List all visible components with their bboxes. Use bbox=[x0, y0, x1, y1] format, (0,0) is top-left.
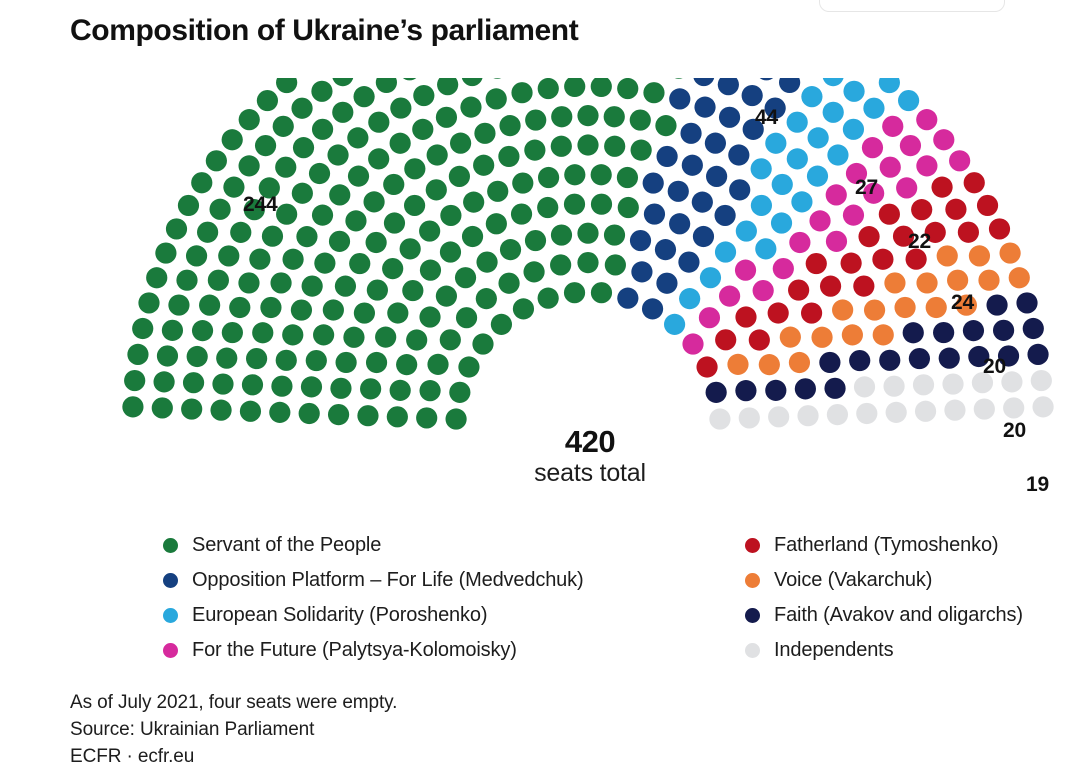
seat-dot bbox=[1009, 267, 1030, 288]
legend-item[interactable]: For the Future (Palytsya-Kolomoisky) bbox=[163, 633, 584, 668]
seat-dot bbox=[260, 297, 281, 318]
seat-dot bbox=[255, 135, 276, 156]
seat-dot bbox=[977, 195, 998, 216]
seat-dot bbox=[823, 78, 844, 86]
seat-dot bbox=[715, 205, 736, 226]
seat-dot bbox=[486, 88, 507, 109]
seat-dot bbox=[604, 106, 625, 127]
seat-dot bbox=[858, 226, 879, 247]
seat-dot bbox=[402, 280, 423, 301]
seat-dot bbox=[668, 181, 689, 202]
seat-dot bbox=[427, 144, 448, 165]
seat-dot bbox=[367, 279, 388, 300]
legend-item[interactable]: Independents bbox=[745, 633, 1023, 668]
seat-dot bbox=[843, 119, 864, 140]
footer-credit: ECFR · ecfr.eu bbox=[70, 744, 397, 771]
seat-dot bbox=[416, 407, 437, 428]
seat-dot bbox=[807, 166, 828, 187]
seat-dot bbox=[360, 378, 381, 399]
seat-dot bbox=[212, 373, 233, 394]
seat-dot bbox=[884, 272, 905, 293]
seat-dot bbox=[751, 195, 772, 216]
seat-dot bbox=[511, 203, 532, 224]
seat-dot bbox=[678, 251, 699, 272]
legend-item[interactable]: European Solidarity (Poroshenko) bbox=[163, 598, 584, 633]
seat-dot bbox=[933, 322, 954, 343]
legend-item[interactable]: Servant of the People bbox=[163, 528, 584, 563]
seat-dot bbox=[270, 272, 291, 293]
seat-dot bbox=[210, 400, 231, 421]
seat-dot bbox=[986, 294, 1007, 315]
seat-dot bbox=[765, 380, 786, 401]
seat-dot bbox=[668, 78, 689, 79]
seat-dot bbox=[879, 350, 900, 371]
seat-dot bbox=[206, 150, 227, 171]
seat-dot bbox=[913, 374, 934, 395]
seat-dot bbox=[209, 199, 230, 220]
seat-dot bbox=[192, 320, 213, 341]
seat-dot bbox=[472, 333, 493, 354]
seat-dot bbox=[230, 222, 251, 243]
seat-dot bbox=[498, 146, 519, 167]
seat-dot bbox=[718, 78, 739, 95]
seat-dot bbox=[577, 134, 598, 155]
browser-tab-sliver bbox=[820, 0, 1004, 11]
seat-dot bbox=[735, 380, 756, 401]
seat-dot bbox=[617, 167, 638, 188]
seat-dot bbox=[323, 299, 344, 320]
seat-dot bbox=[945, 199, 966, 220]
seat-dot bbox=[789, 232, 810, 253]
seat-dot bbox=[525, 230, 546, 251]
seat-dot bbox=[715, 241, 736, 262]
seat-dot bbox=[682, 333, 703, 354]
seat-dot bbox=[387, 302, 408, 323]
seat-count-callout: 19 bbox=[1026, 473, 1049, 497]
seat-dot bbox=[880, 157, 901, 178]
seat-dot bbox=[736, 220, 757, 241]
seat-dot bbox=[498, 273, 519, 294]
seat-dot bbox=[336, 352, 357, 373]
seat-dot bbox=[537, 197, 558, 218]
seat-dot bbox=[735, 306, 756, 327]
seat-dot bbox=[719, 286, 740, 307]
seat-dot bbox=[826, 231, 847, 252]
seat-dot bbox=[1031, 370, 1052, 391]
seat-dot bbox=[820, 276, 841, 297]
seat-dot bbox=[440, 205, 461, 226]
seat-dot bbox=[387, 406, 408, 427]
seat-dot bbox=[749, 329, 770, 350]
seat-dot bbox=[823, 102, 844, 123]
seat-dot bbox=[486, 213, 507, 234]
seat-dot bbox=[705, 133, 726, 154]
seat-dot bbox=[375, 327, 396, 348]
seat-dot bbox=[239, 109, 260, 130]
seat-dot bbox=[564, 194, 585, 215]
seat-dot bbox=[1027, 344, 1048, 365]
seat-dot bbox=[809, 210, 830, 231]
seat-dot bbox=[591, 282, 612, 303]
seat-dot bbox=[500, 239, 521, 260]
seat-dot bbox=[363, 191, 384, 212]
seat-dot bbox=[384, 212, 405, 233]
legend-item-label: Voice (Vakarchuk) bbox=[774, 569, 932, 592]
seat-dot bbox=[729, 179, 750, 200]
seat-dot bbox=[168, 294, 189, 315]
seat-dot bbox=[152, 397, 173, 418]
seat-dot bbox=[301, 376, 322, 397]
footer: As of July 2021, four seats were empty. … bbox=[70, 690, 397, 771]
seat-dot bbox=[827, 404, 848, 425]
seat-dot bbox=[327, 144, 348, 165]
seat-dot bbox=[368, 112, 389, 133]
seat-dot bbox=[963, 320, 984, 341]
seat-dot bbox=[873, 324, 894, 345]
seat-dot bbox=[735, 260, 756, 281]
seat-dot bbox=[186, 245, 207, 266]
seat-dot bbox=[176, 270, 197, 291]
seat-dot bbox=[404, 195, 425, 216]
seat-dot bbox=[856, 403, 877, 424]
seat-dot bbox=[437, 78, 458, 95]
seat-dot bbox=[412, 119, 433, 140]
seat-dot bbox=[146, 267, 167, 288]
seat-dot bbox=[801, 86, 822, 107]
seat-dot bbox=[242, 374, 263, 395]
total-seats-block: 420 seats total bbox=[470, 424, 710, 488]
seat-dot bbox=[299, 403, 320, 424]
seat-dot bbox=[513, 298, 534, 319]
seat-dot bbox=[742, 85, 763, 106]
seat-dot bbox=[591, 194, 612, 215]
seat-dot bbox=[808, 127, 829, 148]
seat-dot bbox=[330, 378, 351, 399]
seat-dot bbox=[853, 276, 874, 297]
seat-dot bbox=[249, 249, 270, 270]
seat-dot bbox=[153, 371, 174, 392]
seat-dot bbox=[564, 78, 585, 97]
seat-dot bbox=[162, 320, 183, 341]
footer-source: Source: Ukrainian Parliament bbox=[70, 717, 397, 744]
seat-dot bbox=[978, 270, 999, 291]
page-title: Composition of Ukraine’s parliament bbox=[70, 14, 578, 48]
seat-dot bbox=[551, 136, 572, 157]
seat-dot bbox=[631, 140, 652, 161]
seat-dot bbox=[292, 183, 313, 204]
legend-item-label: European Solidarity (Poroshenko) bbox=[192, 604, 487, 627]
seat-dot bbox=[926, 297, 947, 318]
seat-dot bbox=[474, 123, 495, 144]
seat-dot bbox=[269, 402, 290, 423]
seat-dot bbox=[138, 292, 159, 313]
legend-item[interactable]: Opposition Platform – For Life (Medvedch… bbox=[163, 563, 584, 598]
seat-dot bbox=[631, 261, 652, 282]
seat-dot bbox=[916, 155, 937, 176]
seat-dot bbox=[1000, 242, 1021, 263]
seat-dot bbox=[353, 86, 374, 107]
legend-item-label: Fatherland (Tymoshenko) bbox=[774, 534, 998, 557]
seat-dot bbox=[564, 282, 585, 303]
seat-dot bbox=[538, 78, 559, 99]
seat-dot bbox=[458, 356, 479, 377]
seat-dot bbox=[302, 276, 323, 297]
seat-dot bbox=[309, 163, 330, 184]
seat-dot bbox=[463, 192, 484, 213]
seat-dot bbox=[700, 267, 721, 288]
seat-dot bbox=[273, 116, 294, 137]
seat-dot bbox=[787, 112, 808, 133]
seat-dot bbox=[296, 226, 317, 247]
seat-dot bbox=[827, 144, 848, 165]
seat-dot bbox=[276, 350, 297, 371]
seat-dot bbox=[525, 109, 546, 130]
legend-item-label: Faith (Avakov and oligarchs) bbox=[774, 604, 1023, 627]
legend-item-label: Servant of the People bbox=[192, 534, 381, 557]
seat-dot bbox=[883, 376, 904, 397]
seat-dot bbox=[655, 115, 676, 136]
seat-dot bbox=[276, 78, 297, 93]
seat-dot bbox=[706, 382, 727, 403]
seat-dot bbox=[450, 133, 471, 154]
seat-dot bbox=[487, 78, 508, 79]
seat-dot bbox=[419, 306, 440, 327]
seat-dot bbox=[605, 254, 626, 275]
seat-dot bbox=[879, 78, 900, 93]
seat-dot bbox=[630, 230, 651, 251]
seat-dot bbox=[643, 82, 664, 103]
footer-note: As of July 2021, four seats were empty. bbox=[70, 690, 397, 717]
seat-dot bbox=[306, 350, 327, 371]
seat-dot bbox=[824, 378, 845, 399]
seat-dot bbox=[512, 172, 533, 193]
seat-dot bbox=[788, 279, 809, 300]
seat-dot bbox=[843, 205, 864, 226]
seat-dot bbox=[499, 115, 520, 136]
legend-item-label: For the Future (Palytsya-Kolomoisky) bbox=[192, 639, 517, 662]
seat-dot bbox=[538, 288, 559, 309]
seat-dot bbox=[630, 109, 651, 130]
seat-dot bbox=[390, 133, 411, 154]
seat-dot bbox=[694, 97, 715, 118]
seat-dot bbox=[491, 314, 512, 335]
legend-color-swatch-icon bbox=[163, 573, 178, 588]
seat-count-callout: 44 bbox=[755, 106, 778, 130]
seat-dot bbox=[617, 288, 638, 309]
seat-dot bbox=[993, 320, 1014, 341]
seat-dot bbox=[311, 81, 332, 102]
seat-dot bbox=[692, 192, 713, 213]
seat-dot bbox=[989, 218, 1010, 239]
seat-dot bbox=[728, 144, 749, 165]
seat-dot bbox=[476, 288, 497, 309]
seat-dot bbox=[343, 327, 364, 348]
legend-column-right: Fatherland (Tymoshenko)Voice (Vakarchuk)… bbox=[745, 528, 1023, 668]
seat-dot bbox=[916, 109, 937, 130]
legend-color-swatch-icon bbox=[745, 538, 760, 553]
seat-dot bbox=[257, 90, 278, 111]
seat-dot bbox=[187, 346, 208, 367]
seat-dot bbox=[449, 382, 470, 403]
seat-dot bbox=[312, 119, 333, 140]
seat-dot bbox=[223, 177, 244, 198]
seat-dot bbox=[345, 210, 366, 231]
seat-dot bbox=[282, 249, 303, 270]
seat-dot bbox=[693, 226, 714, 247]
seat-dot bbox=[642, 298, 663, 319]
seat-dot bbox=[669, 88, 690, 109]
legend-color-swatch-icon bbox=[163, 643, 178, 658]
seat-dot bbox=[313, 324, 334, 345]
seat-dot bbox=[958, 222, 979, 243]
seat-dot bbox=[124, 370, 145, 391]
seat-dot bbox=[473, 155, 494, 176]
seat-dot bbox=[390, 380, 411, 401]
seat-dot bbox=[440, 329, 461, 350]
seat-dot bbox=[872, 249, 893, 270]
seat-dot bbox=[886, 402, 907, 423]
seat-dot bbox=[445, 408, 466, 429]
seat-dot bbox=[974, 398, 995, 419]
seat-dot bbox=[551, 106, 572, 127]
legend-color-swatch-icon bbox=[163, 538, 178, 553]
seat-dot bbox=[797, 405, 818, 426]
seat-dot bbox=[413, 85, 434, 106]
seat-dot bbox=[719, 107, 740, 128]
seat-dot bbox=[222, 322, 243, 343]
seat-dot bbox=[238, 272, 259, 293]
seat-dot bbox=[538, 167, 559, 188]
seat-dot bbox=[696, 356, 717, 377]
seat-dot bbox=[699, 307, 720, 328]
seat-count-callout: 20 bbox=[1003, 419, 1026, 443]
seat-dot bbox=[693, 78, 714, 86]
seat-dot bbox=[795, 378, 816, 399]
seat-count-callout: 22 bbox=[908, 230, 931, 254]
seat-dot bbox=[1003, 397, 1024, 418]
legend-item-label: Opposition Platform – For Life (Medvedch… bbox=[192, 569, 584, 592]
seat-dot bbox=[944, 400, 965, 421]
seat-dot bbox=[849, 350, 870, 371]
seat-dot bbox=[773, 258, 794, 279]
seat-dot bbox=[789, 352, 810, 373]
seat-dot bbox=[419, 380, 440, 401]
seat-dot bbox=[550, 254, 571, 275]
seat-dot bbox=[199, 295, 220, 316]
seat-dot bbox=[396, 354, 417, 375]
seat-dot bbox=[618, 197, 639, 218]
seat-dot bbox=[806, 253, 827, 274]
legend-item[interactable]: Faith (Avakov and oligarchs) bbox=[745, 598, 1023, 633]
seat-dot bbox=[400, 238, 421, 259]
seat-dot bbox=[679, 288, 700, 309]
seat-dot bbox=[826, 184, 847, 205]
seat-dot bbox=[511, 82, 532, 103]
seat-dot bbox=[655, 239, 676, 260]
seat-count-callout: 24 bbox=[951, 291, 974, 315]
seat-dot bbox=[348, 166, 369, 187]
seat-dot bbox=[551, 224, 572, 245]
seat-dot bbox=[768, 406, 789, 427]
seat-dot bbox=[275, 157, 296, 178]
seat-dot bbox=[487, 181, 508, 202]
seat-dot bbox=[328, 404, 349, 425]
seat-dot bbox=[791, 191, 812, 212]
seat-dot bbox=[366, 352, 387, 373]
seat-dot bbox=[347, 127, 368, 148]
seat-dot bbox=[894, 297, 915, 318]
seat-dot bbox=[332, 78, 353, 86]
seat-dot bbox=[898, 90, 919, 111]
seat-count-callout: 20 bbox=[983, 355, 1006, 379]
legend-item[interactable]: Fatherland (Tymoshenko) bbox=[745, 528, 1023, 563]
seat-dot bbox=[1032, 396, 1053, 417]
seat-dot bbox=[329, 184, 350, 205]
seat-dot bbox=[591, 164, 612, 185]
seat-dot bbox=[841, 253, 862, 274]
seat-dot bbox=[617, 78, 638, 99]
legend-color-swatch-icon bbox=[745, 643, 760, 658]
seat-dot bbox=[291, 98, 312, 119]
seat-dot bbox=[246, 348, 267, 369]
seat-dot bbox=[132, 318, 153, 339]
seat-dot bbox=[404, 158, 425, 179]
seat-dot bbox=[419, 220, 440, 241]
seat-dot bbox=[863, 98, 884, 119]
seat-dot bbox=[329, 231, 350, 252]
legend-color-swatch-icon bbox=[163, 608, 178, 623]
seat-dot bbox=[643, 172, 664, 193]
seat-dot bbox=[916, 272, 937, 293]
seat-dot bbox=[523, 261, 544, 282]
seat-dot bbox=[197, 222, 218, 243]
seat-dot bbox=[1023, 318, 1044, 339]
legend-color-swatch-icon bbox=[745, 608, 760, 623]
seat-dot bbox=[755, 238, 776, 259]
seat-dot bbox=[1016, 292, 1037, 313]
seat-dot bbox=[240, 401, 261, 422]
seat-dot bbox=[183, 372, 204, 393]
seat-dot bbox=[604, 136, 625, 157]
seat-dot bbox=[332, 102, 353, 123]
seat-dot bbox=[122, 396, 143, 417]
seat-dot bbox=[436, 286, 457, 307]
seat-dot bbox=[218, 245, 239, 266]
seat-dot bbox=[964, 172, 985, 193]
seat-dot bbox=[937, 245, 958, 266]
seat-dot bbox=[949, 150, 970, 171]
seat-dot bbox=[524, 140, 545, 161]
seat-dot bbox=[909, 348, 930, 369]
seat-dot bbox=[462, 78, 483, 86]
seat-dot bbox=[756, 78, 777, 80]
seat-dot bbox=[291, 299, 312, 320]
legend-column-left: Servant of the PeopleOpposition Platform… bbox=[163, 528, 584, 668]
seat-dot bbox=[882, 116, 903, 137]
seat-dot bbox=[864, 299, 885, 320]
seat-dot bbox=[706, 166, 727, 187]
seat-dot bbox=[664, 314, 685, 335]
seat-dot bbox=[644, 203, 665, 224]
legend-item[interactable]: Voice (Vakarchuk) bbox=[745, 563, 1023, 598]
seat-dot bbox=[787, 148, 808, 169]
seat-dot bbox=[427, 354, 448, 375]
seat-dot bbox=[577, 105, 598, 126]
legend-color-swatch-icon bbox=[745, 573, 760, 588]
seat-dot bbox=[657, 146, 678, 167]
seat-dot bbox=[366, 232, 387, 253]
seat-dot bbox=[854, 376, 875, 397]
